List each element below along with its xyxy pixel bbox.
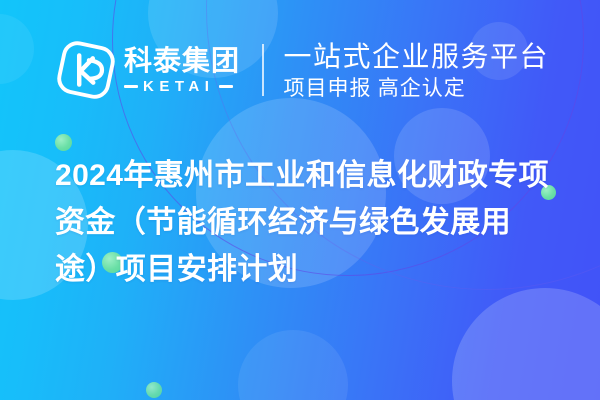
vertical-divider (262, 44, 264, 96)
banner-header: 科泰集团 KETAI 一站式企业服务平台 项目申报 高企认定 (0, 0, 600, 140)
brand-name-cn: 科泰集团 (124, 46, 240, 76)
tagline-sub: 项目申报 高企认定 (284, 75, 550, 101)
rule-left-icon (124, 85, 138, 88)
brand-name-en: KETAI (143, 79, 214, 94)
bokeh-circle (238, 330, 348, 400)
brand-wordmark: 科泰集团 KETAI (124, 46, 240, 94)
rule-right-icon (219, 85, 233, 88)
brand-lockup[interactable]: 科泰集团 KETAI (55, 39, 240, 101)
page-title: 2024年惠州市工业和信息化财政专项资金（节能循环经济与绿色发展用途）项目安排计… (55, 152, 555, 293)
brand-name-en-row: KETAI (124, 79, 240, 94)
tagline-block: 一站式企业服务平台 项目申报 高企认定 (284, 40, 550, 101)
bokeh-circle (452, 288, 600, 400)
green-dot-icon (146, 382, 162, 398)
headline-wrap: 2024年惠州市工业和信息化财政专项资金（节能循环经济与绿色发展用途）项目安排计… (55, 152, 555, 293)
ketai-monogram-icon (55, 39, 117, 101)
tagline-main: 一站式企业服务平台 (284, 40, 550, 73)
promo-banner: 科泰集团 KETAI 一站式企业服务平台 项目申报 高企认定 2024年惠州市工… (0, 0, 600, 400)
